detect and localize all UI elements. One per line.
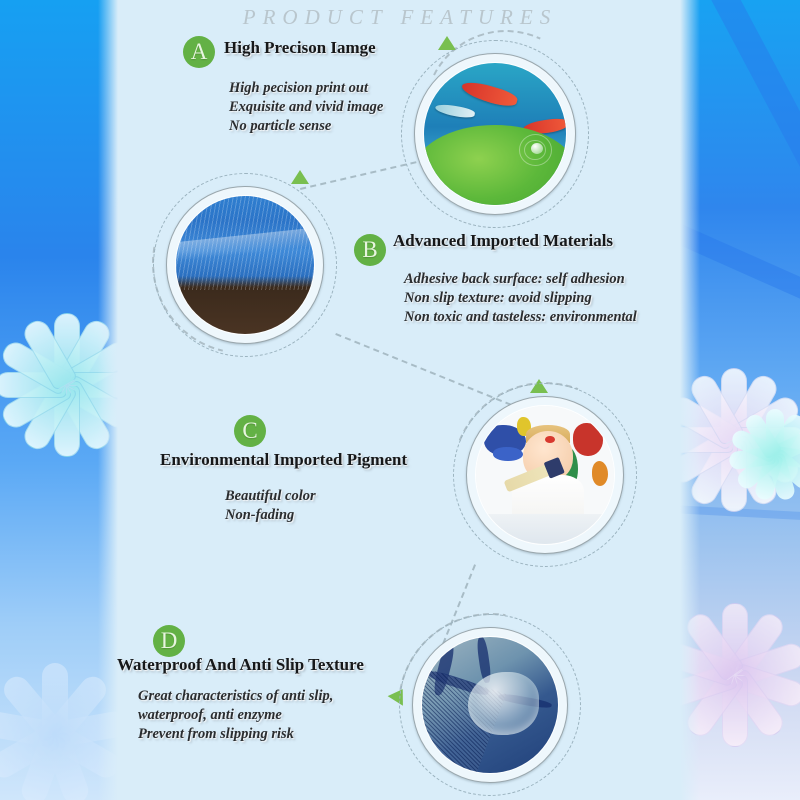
feature-body-a: High pecision print out Exquisite and vi… bbox=[229, 79, 383, 136]
feature-line: Exquisite and vivid image bbox=[229, 98, 383, 117]
badge-letter-d: D bbox=[153, 625, 185, 657]
feature-line: Non toxic and tasteless: environmental bbox=[404, 308, 637, 327]
feature-heading-b: Advanced Imported Materials bbox=[393, 231, 613, 251]
feature-line: High pecision print out bbox=[229, 79, 383, 98]
feature-line: Non-fading bbox=[225, 506, 316, 525]
feature-heading-c: Environmental Imported Pigment bbox=[160, 450, 407, 470]
feature-line: waterproof, anti enzyme bbox=[138, 706, 333, 725]
badge-letter-c: C bbox=[234, 415, 266, 447]
feature-body-c: Beautiful color Non-fading bbox=[225, 487, 316, 525]
badge-letter-a: A bbox=[183, 36, 215, 68]
feature-line: No particle sense bbox=[229, 117, 383, 136]
feature-body-d: Great characteristics of anti slip, wate… bbox=[138, 687, 333, 744]
feature-heading-a: High Precison Iamge bbox=[224, 38, 376, 58]
right-decorative-border bbox=[680, 0, 800, 800]
feature-line: Prevent from slipping risk bbox=[138, 725, 333, 744]
feature-body-b: Adhesive back surface: self adhesion Non… bbox=[404, 270, 637, 327]
feature-photo-c bbox=[466, 396, 624, 554]
feature-line: Great characteristics of anti slip, bbox=[138, 687, 333, 706]
arrow-to-circle-a bbox=[438, 36, 456, 50]
page-title: PRODUCT FEATURES bbox=[0, 5, 800, 30]
feature-line: Adhesive back surface: self adhesion bbox=[404, 270, 637, 289]
left-decorative-border bbox=[0, 0, 118, 800]
feature-photo-d bbox=[412, 627, 568, 783]
photo-baby-with-paint-brush bbox=[475, 405, 615, 545]
left-border-fade bbox=[98, 0, 118, 800]
feature-line: Beautiful color bbox=[225, 487, 316, 506]
diagonal-band bbox=[690, 0, 800, 225]
flower-motif-right-small bbox=[720, 400, 800, 510]
feature-photo-a bbox=[414, 53, 576, 215]
feature-line: Non slip texture: avoid slipping bbox=[404, 289, 637, 308]
product-features-infographic: PRODUCT FEATURES bbox=[0, 0, 800, 800]
photo-blue-ribbed-fabric bbox=[175, 195, 315, 335]
photo-koi-fish-printed-image bbox=[423, 62, 567, 206]
badge-letter-b: B bbox=[354, 234, 386, 266]
feature-heading-d: Waterproof And Anti Slip Texture bbox=[117, 655, 364, 675]
arrow-to-circle-b bbox=[291, 170, 309, 184]
feature-photo-b bbox=[166, 186, 324, 344]
photo-water-droplet-surface bbox=[421, 636, 559, 774]
right-border-fade bbox=[680, 0, 700, 800]
